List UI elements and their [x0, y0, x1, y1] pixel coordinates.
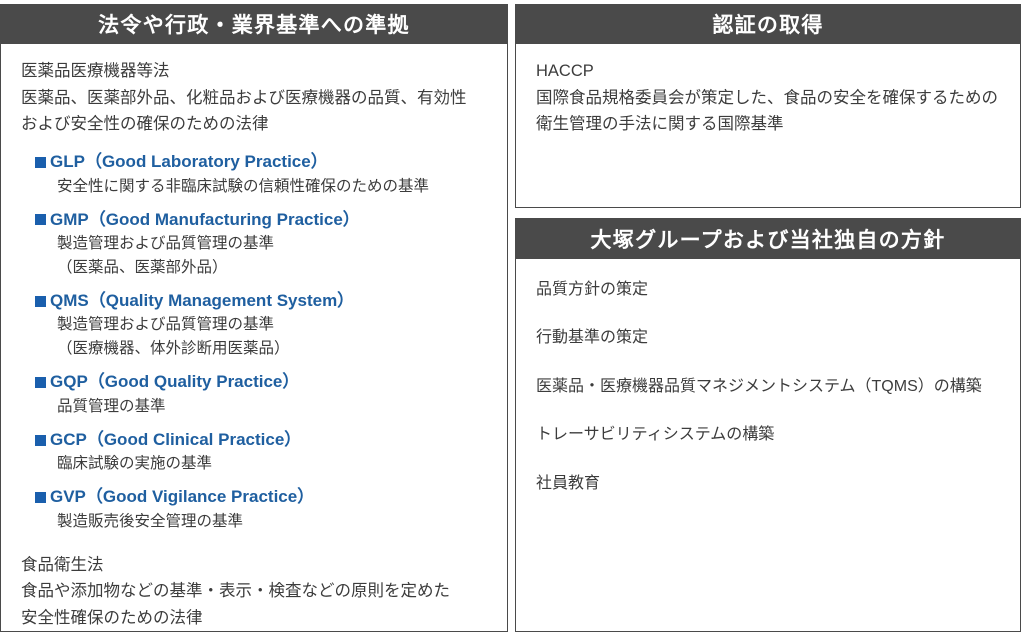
certification-card-header: 認証の取得	[516, 4, 1020, 44]
blue-square-marker-icon	[35, 377, 46, 388]
blue-square-marker-icon	[35, 296, 46, 307]
list-item: 医薬品・医療機器品質マネジメントシステム（TQMS）の構築	[536, 376, 1000, 398]
list-item: GMP（Good Manufacturing Practice） 製造管理および…	[21, 210, 487, 280]
practice-title-qms: QMS（Quality Management System）	[35, 291, 487, 311]
practice-desc-gcp: 臨床試験の実施の基準	[57, 452, 487, 476]
practice-desc-line: 臨床試験の実施の基準	[57, 452, 487, 476]
policy-card-body: 品質方針の策定 行動基準の策定 医薬品・医療機器品質マネジメントシステム（TQM…	[516, 259, 1020, 495]
practice-label: GQP（Good Quality Practice）	[50, 372, 299, 392]
list-item: GQP（Good Quality Practice） 品質管理の基準	[21, 372, 487, 418]
pharmaceutical-law-desc-line2: および安全性の確保のための法律	[21, 111, 487, 138]
blue-square-marker-icon	[35, 492, 46, 503]
policy-items-list: 品質方針の策定 行動基準の策定 医薬品・医療機器品質マネジメントシステム（TQM…	[536, 279, 1000, 495]
practice-desc-line: 製造販売後安全管理の基準	[57, 510, 487, 534]
practice-desc-gmp: 製造管理および品質管理の基準 （医薬品、医薬部外品）	[57, 232, 487, 280]
list-item: QMS（Quality Management System） 製造管理および品質…	[21, 291, 487, 361]
compliance-card-header: 法令や行政・業界基準への準拠	[1, 4, 507, 44]
blue-square-marker-icon	[35, 435, 46, 446]
list-item: 行動基準の策定	[536, 327, 1000, 349]
practice-desc-gqp: 品質管理の基準	[57, 395, 487, 419]
pharmaceutical-law-name: 医薬品医療機器等法	[21, 58, 487, 85]
list-item: GVP（Good Vigilance Practice） 製造販売後安全管理の基…	[21, 487, 487, 533]
practice-standards-list: GLP（Good Laboratory Practice） 安全性に関する非臨床…	[21, 152, 487, 533]
practice-title-gqp: GQP（Good Quality Practice）	[35, 372, 487, 392]
slide-board: 法令や行政・業界基準への準拠 医薬品医療機器等法 医薬品、医薬部外品、化粧品およ…	[0, 0, 1021, 639]
policy-card: 大塚グループおよび当社独自の方針 品質方針の策定 行動基準の策定 医薬品・医療機…	[515, 218, 1021, 632]
blue-square-marker-icon	[35, 214, 46, 225]
blue-square-marker-icon	[35, 157, 46, 168]
practice-desc-line: 製造管理および品質管理の基準	[57, 313, 487, 337]
compliance-card-body: 医薬品医療機器等法 医薬品、医薬部外品、化粧品および医療機器の品質、有効性 およ…	[1, 44, 507, 632]
practice-label: GVP（Good Vigilance Practice）	[50, 487, 314, 507]
practice-desc-gvp: 製造販売後安全管理の基準	[57, 510, 487, 534]
practice-desc-line: 製造管理および品質管理の基準	[57, 232, 487, 256]
compliance-card-title: 法令や行政・業界基準への準拠	[98, 9, 410, 39]
practice-desc-glp: 安全性に関する非臨床試験の信頼性確保のための基準	[57, 175, 487, 199]
practice-title-gvp: GVP（Good Vigilance Practice）	[35, 487, 487, 507]
food-law-desc-line2: 安全性確保のための法律	[21, 605, 487, 632]
pharmaceutical-law-block: 医薬品医療機器等法 医薬品、医薬部外品、化粧品および医療機器の品質、有効性 およ…	[21, 58, 487, 138]
policy-card-title: 大塚グループおよび当社独自の方針	[591, 224, 946, 254]
practice-desc-line: 品質管理の基準	[57, 395, 487, 419]
food-law-name: 食品衛生法	[21, 552, 487, 579]
practice-desc-qms: 製造管理および品質管理の基準 （医療機器、体外診断用医薬品）	[57, 313, 487, 361]
certification-card: 認証の取得 HACCP 国際食品規格委員会が策定した、食品の安全を確保するための…	[515, 4, 1021, 208]
practice-desc-line: （医薬品、医薬部外品）	[57, 256, 487, 280]
list-item: GCP（Good Clinical Practice） 臨床試験の実施の基準	[21, 430, 487, 476]
list-item: 品質方針の策定	[536, 279, 1000, 301]
practice-title-gmp: GMP（Good Manufacturing Practice）	[35, 210, 487, 230]
list-item: GLP（Good Laboratory Practice） 安全性に関する非臨床…	[21, 152, 487, 198]
certification-card-title: 認証の取得	[712, 9, 823, 39]
practice-title-glp: GLP（Good Laboratory Practice）	[35, 152, 487, 172]
food-law-desc-line1: 食品や添加物などの基準・表示・検査などの原則を定めた	[21, 578, 487, 605]
certification-card-body: HACCP 国際食品規格委員会が策定した、食品の安全を確保するための 衛生管理の…	[516, 44, 1020, 138]
certification-name: HACCP	[536, 58, 1000, 85]
food-sanitation-law-block: 食品衛生法 食品や添加物などの基準・表示・検査などの原則を定めた 安全性確保のた…	[21, 552, 487, 632]
practice-label: QMS（Quality Management System）	[50, 291, 354, 311]
practice-label: GCP（Good Clinical Practice）	[50, 430, 301, 450]
list-item: 社員教育	[536, 473, 1000, 495]
list-item: トレーサビリティシステムの構築	[536, 424, 1000, 446]
practice-title-gcp: GCP（Good Clinical Practice）	[35, 430, 487, 450]
compliance-card: 法令や行政・業界基準への準拠 医薬品医療機器等法 医薬品、医薬部外品、化粧品およ…	[0, 4, 508, 632]
practice-desc-line: （医療機器、体外診断用医薬品）	[57, 337, 487, 361]
practice-label: GLP（Good Laboratory Practice）	[50, 152, 328, 172]
practice-desc-line: 安全性に関する非臨床試験の信頼性確保のための基準	[57, 175, 487, 199]
certification-desc-line1: 国際食品規格委員会が策定した、食品の安全を確保するための	[536, 85, 1000, 112]
pharmaceutical-law-desc-line1: 医薬品、医薬部外品、化粧品および医療機器の品質、有効性	[21, 85, 487, 112]
certification-desc-line2: 衛生管理の手法に関する国際基準	[536, 111, 1000, 138]
policy-card-header: 大塚グループおよび当社独自の方針	[516, 219, 1020, 259]
practice-label: GMP（Good Manufacturing Practice）	[50, 210, 360, 230]
